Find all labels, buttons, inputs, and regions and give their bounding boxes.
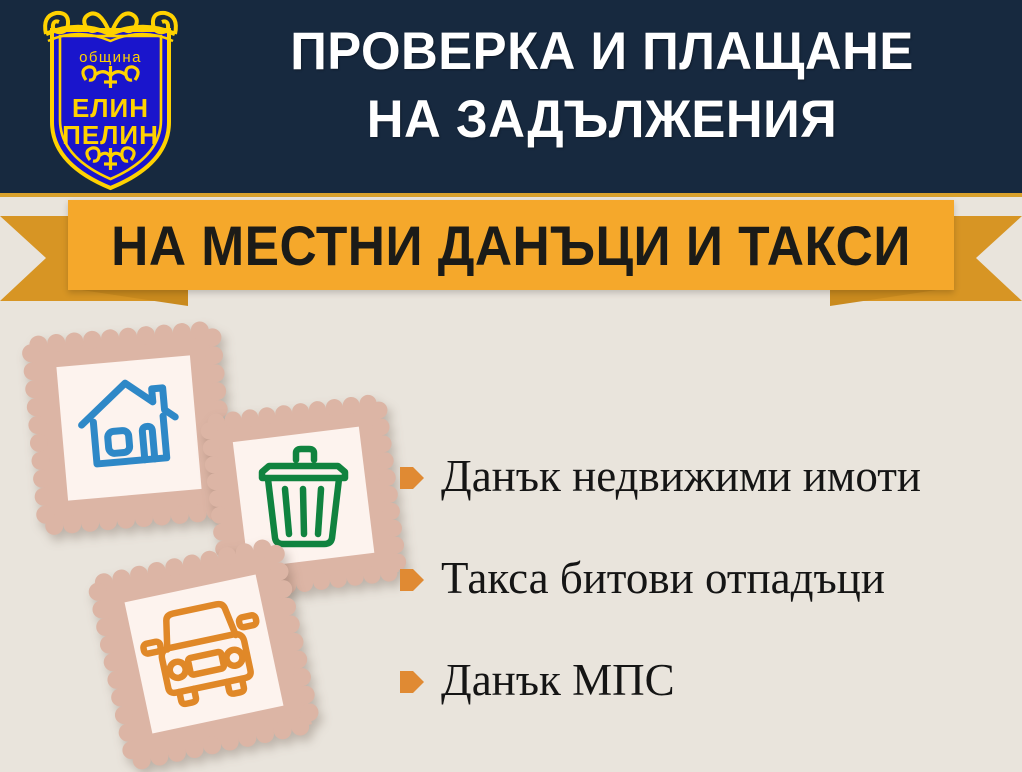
list-item[interactable]: Данък недвижими имоти (400, 425, 1015, 527)
stamp-card-vehicle-tax (88, 538, 320, 770)
list-item-label: Данък МПС (441, 658, 675, 703)
list-item[interactable]: Такса битови отпадъци (400, 527, 1015, 629)
ribbon-band: НА МЕСТНИ ДАНЪЦИ И ТАКСИ (68, 200, 954, 290)
arrow-pentagon-icon (400, 669, 424, 695)
ribbon-label: НА МЕСТНИ ДАНЪЦИ И ТАКСИ (103, 200, 918, 290)
coat-of-arms-icon: община ЕЛИН ПЕЛИН (38, 4, 183, 194)
page-title-line-1: ПРОВЕРКА И ПЛАЩАНЕ (290, 22, 914, 81)
list-item-label: Такса битови отпадъци (441, 556, 885, 601)
list-item[interactable]: Данък МПС (400, 629, 1015, 731)
page-title: ПРОВЕРКА И ПЛАЩАНЕ НА ЗАДЪЛЖЕНИЯ (208, 18, 995, 154)
svg-text:община: община (79, 49, 142, 66)
list-item-label: Данък недвижими имоти (441, 454, 921, 499)
tax-type-list: Данък недвижими имоти Такса битови отпад… (400, 425, 1015, 731)
arrow-pentagon-icon (400, 465, 424, 491)
ribbon-banner: НА МЕСТНИ ДАНЪЦИ И ТАКСИ (0, 196, 1022, 306)
poster-canvas: община ЕЛИН ПЕЛИН ПРОВЕРКА И П (0, 0, 1022, 772)
svg-text:ЕЛИН: ЕЛИН (72, 93, 149, 123)
page-title-line-2: НА ЗАДЪЛЖЕНИЯ (208, 86, 995, 154)
svg-text:ПЕЛИН: ПЕЛИН (62, 120, 159, 150)
arrow-pentagon-icon (400, 567, 424, 593)
